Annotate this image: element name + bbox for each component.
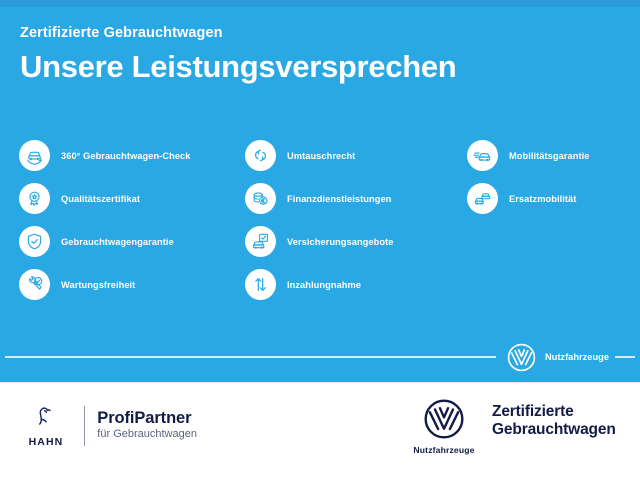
benefit-item-mobility-guarantee[interactable]: Mobilitätsgarantie: [467, 134, 640, 177]
vw-logo-icon: [506, 342, 537, 373]
benefit-item-quality-certificate[interactable]: Qualitätszertifikat: [19, 177, 245, 220]
benefit-label: Finanzdienstleistungen: [287, 194, 391, 204]
benefit-item-trade-in[interactable]: Inzahlungnahme: [245, 263, 467, 306]
hero-top-edge: [0, 0, 640, 7]
benefit-item-360-check[interactable]: 360° Gebrauchtwagen-Check: [19, 134, 245, 177]
kicker-text: Zertifizierte Gebrauchtwagen: [20, 26, 620, 42]
vw-footer-sublabel: Nutzfahrzeuge: [410, 445, 478, 455]
hero-panel: Zertifizierte Gebrauchtwagen Unsere Leis…: [0, 0, 640, 382]
car-speed-icon: [467, 140, 498, 171]
benefits-column-3: Mobilitätsgarantie Ersatzmobilität: [467, 134, 640, 306]
benefit-label: Mobilitätsgarantie: [509, 151, 589, 161]
certified-line-2: Gebrauchtwagen: [492, 421, 616, 439]
vw-footer-logo: Nutzfahrzeuge: [410, 397, 478, 455]
benefit-label: Inzahlungnahme: [287, 280, 361, 290]
benefits-grid: 360° Gebrauchtwagen-Check Qualitätszerti…: [0, 134, 640, 306]
heading-block: Zertifizierte Gebrauchtwagen Unsere Leis…: [20, 26, 620, 85]
car-document-check-icon: [245, 226, 276, 257]
benefit-label: Umtauschrecht: [287, 151, 355, 161]
up-down-arrows-icon: [245, 269, 276, 300]
profipartner-title: ProfiPartner: [97, 409, 197, 427]
hahn-wordmark: HAHN: [20, 436, 72, 448]
vw-brand-strip: Nutzfahrzeuge: [0, 339, 640, 375]
shield-check-icon: [19, 226, 50, 257]
profipartner-text: ProfiPartner für Gebrauchtwagen: [97, 409, 197, 442]
benefit-item-warranty[interactable]: Gebrauchtwagengarantie: [19, 220, 245, 263]
benefits-column-1: 360° Gebrauchtwagen-Check Qualitätszerti…: [0, 134, 245, 306]
page-title: Unsere Leistungsversprechen: [20, 50, 620, 85]
benefit-item-insurance-offers[interactable]: Versicherungsangebote: [245, 220, 467, 263]
benefit-label: Wartungsfreiheit: [61, 280, 135, 290]
car-360-check-icon: [19, 140, 50, 171]
coins-euro-icon: [245, 183, 276, 214]
wrench-check-icon: [19, 269, 50, 300]
divider-line-tail: [621, 356, 635, 358]
quality-seal-icon: [19, 183, 50, 214]
benefit-label: Qualitätszertifikat: [61, 194, 140, 204]
benefit-item-exchange-right[interactable]: Umtauschrecht: [245, 134, 467, 177]
benefit-label: 360° Gebrauchtwagen-Check: [61, 151, 191, 161]
two-cars-icon: [467, 183, 498, 214]
benefit-item-replacement-mobility[interactable]: Ersatzmobilität: [467, 177, 640, 220]
vw-logo-icon: [410, 397, 478, 441]
benefit-label: Ersatzmobilität: [509, 194, 576, 204]
vw-strip-label: Nutzfahrzeuge: [545, 352, 609, 362]
hahn-rooster-icon: [20, 403, 72, 434]
benefit-item-maintenance-free[interactable]: Wartungsfreiheit: [19, 263, 245, 306]
profipartner-subtitle: für Gebrauchtwagen: [97, 428, 197, 442]
certified-line-1: Zertifizierte: [492, 403, 616, 421]
benefit-label: Gebrauchtwagengarantie: [61, 237, 174, 247]
vw-brand-lockup: Nutzfahrzeuge: [496, 339, 615, 375]
benefit-label: Versicherungsangebote: [287, 237, 393, 247]
vertical-divider: [84, 406, 85, 446]
benefit-item-financial-services[interactable]: Finanzdienstleistungen: [245, 177, 467, 220]
benefits-column-2: Umtauschrecht Fina: [245, 134, 467, 306]
hahn-logo: HAHN: [20, 403, 72, 448]
exchange-arrows-icon: [245, 140, 276, 171]
vw-certified-lockup: Nutzfahrzeuge Zertifizierte Gebrauchtwag…: [410, 397, 616, 455]
promo-graphic: Zertifizierte Gebrauchtwagen Unsere Leis…: [0, 0, 640, 480]
footer-bar: HAHN ProfiPartner für Gebrauchtwagen: [0, 382, 640, 480]
certified-used-cars-text: Zertifizierte Gebrauchtwagen: [492, 403, 616, 440]
hahn-partner-lockup: HAHN ProfiPartner für Gebrauchtwagen: [20, 403, 197, 448]
